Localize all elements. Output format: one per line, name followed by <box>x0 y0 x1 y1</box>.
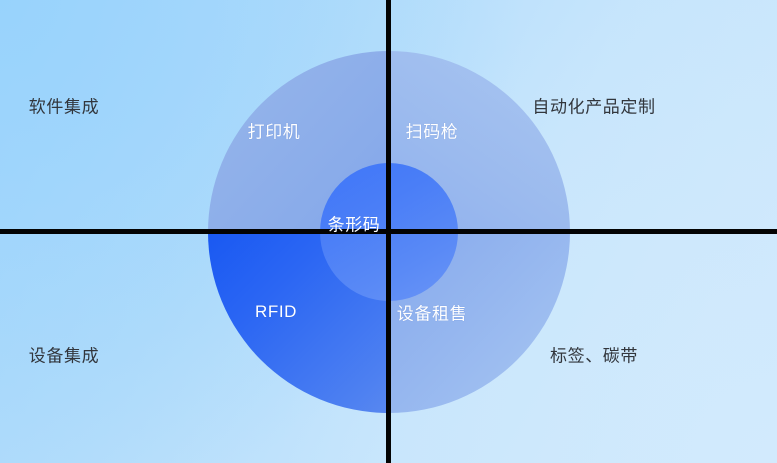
quadrant-inner-label-scanner: 扫码枪 <box>406 118 459 143</box>
quadrant-outer-label-device-integration: 设备集成 <box>29 342 99 367</box>
center-hub-label-barcode: 条形码 <box>328 211 381 236</box>
quadrant-inner-label-printer: 打印机 <box>248 118 301 143</box>
diagram-canvas: 打印机 扫码枪 RFID 设备租售 条形码 软件集成 自动化产品定制 设备集成 … <box>0 0 777 463</box>
quadrant-inner-label-rfid: RFID <box>255 302 297 322</box>
quadrant-inner-label-equipment-rental: 设备租售 <box>397 300 467 325</box>
quadrant-outer-label-automation-product-customization: 自动化产品定制 <box>532 93 655 118</box>
axis-horizontal-divider <box>0 229 777 234</box>
quadrant-outer-label-labels-and-ribbons: 标签、碳带 <box>550 342 638 367</box>
quadrant-outer-label-software-integration: 软件集成 <box>29 93 99 118</box>
